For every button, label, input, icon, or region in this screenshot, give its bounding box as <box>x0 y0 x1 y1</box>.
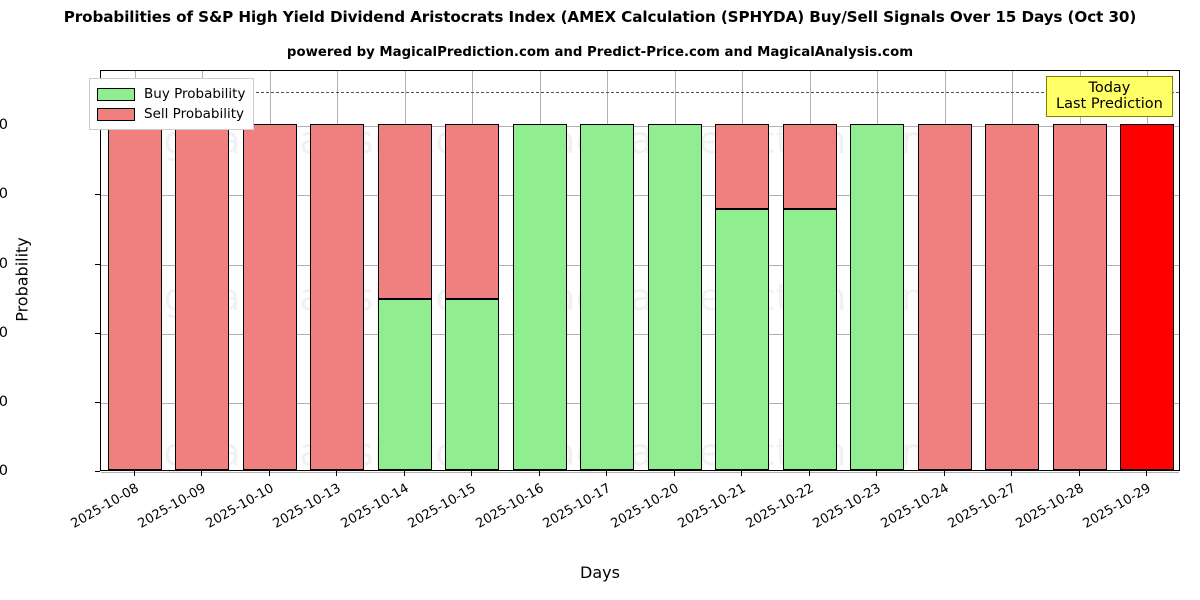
x-tick-mark <box>1079 471 1080 476</box>
bar-2025-10-13[interactable] <box>310 69 364 470</box>
y-gridline <box>101 472 1179 473</box>
bar-2025-10-23[interactable] <box>850 69 904 470</box>
bar-segment-sell[interactable] <box>175 124 229 470</box>
bar-segment-sell[interactable] <box>108 124 162 470</box>
y-tick-label: 60 <box>0 256 8 272</box>
x-tick-mark <box>134 471 135 476</box>
chart-title: Probabilities of S&P High Yield Dividend… <box>0 8 1200 26</box>
y-tick-label: 100 <box>0 117 8 133</box>
bar-segment-buy[interactable] <box>580 124 634 470</box>
today-annotation-line1: Today <box>1056 80 1163 96</box>
x-tick-mark <box>539 471 540 476</box>
bar-segment-sell[interactable] <box>378 124 432 299</box>
y-tick-mark <box>95 264 100 265</box>
x-tick-mark <box>336 471 337 476</box>
chart-figure: Probabilities of S&P High Yield Dividend… <box>0 0 1200 600</box>
y-tick-label: 0 <box>0 463 8 479</box>
watermark: MagicalAnalysis.com <box>109 431 494 474</box>
legend-item-sell: Sell Probability <box>97 104 245 124</box>
x-tick-mark <box>201 471 202 476</box>
x-tick-mark <box>404 471 405 476</box>
bar-2025-10-20[interactable] <box>648 69 702 470</box>
bar-2025-10-17[interactable] <box>580 69 634 470</box>
bar-segment-sell[interactable] <box>715 124 769 209</box>
bar-segment-sell[interactable] <box>985 124 1039 470</box>
legend: Buy Probability Sell Probability <box>89 78 254 130</box>
bar-2025-10-24[interactable] <box>918 69 972 470</box>
bar-segment-sell[interactable] <box>445 124 499 299</box>
bar-segment-buy[interactable] <box>850 124 904 470</box>
y-tick-mark <box>95 194 100 195</box>
x-tick-mark <box>1146 471 1147 476</box>
y-tick-mark <box>95 402 100 403</box>
bar-2025-10-16[interactable] <box>513 69 567 470</box>
x-axis-label: Days <box>0 563 1200 582</box>
y-tick-mark <box>95 471 100 472</box>
legend-swatch-sell-icon <box>97 108 135 121</box>
bar-segment-buy[interactable] <box>648 124 702 470</box>
x-tick-mark <box>1011 471 1012 476</box>
y-tick-label: 80 <box>0 186 8 202</box>
x-tick-mark <box>741 471 742 476</box>
y-tick-mark <box>95 333 100 334</box>
bar-segment-sell[interactable] <box>918 124 972 470</box>
legend-item-buy: Buy Probability <box>97 84 245 104</box>
chart-subtitle: powered by MagicalPrediction.com and Pre… <box>0 45 1200 60</box>
bar-2025-10-15[interactable] <box>445 69 499 470</box>
bar-segment-sell[interactable] <box>1120 124 1174 470</box>
y-tick-label: 20 <box>0 394 8 410</box>
bar-segment-buy[interactable] <box>445 299 499 470</box>
bar-2025-10-21[interactable] <box>715 69 769 470</box>
bar-2025-10-29[interactable] <box>1120 69 1174 470</box>
bar-segment-buy[interactable] <box>513 124 567 470</box>
x-tick-mark <box>944 471 945 476</box>
bar-segment-sell[interactable] <box>783 124 837 209</box>
bar-2025-10-27[interactable] <box>985 69 1039 470</box>
bar-segment-buy[interactable] <box>715 209 769 470</box>
bar-segment-sell[interactable] <box>1053 124 1107 470</box>
x-tick-mark <box>674 471 675 476</box>
bar-segment-buy[interactable] <box>378 299 432 470</box>
x-tick-mark <box>269 471 270 476</box>
x-tick-mark <box>471 471 472 476</box>
legend-label-sell: Sell Probability <box>144 106 244 122</box>
x-tick-mark <box>606 471 607 476</box>
plot-area: MagicalAnalysis.com MagicalPrediction.co… <box>100 70 1180 471</box>
bar-2025-10-28[interactable] <box>1053 69 1107 470</box>
x-tick-mark <box>809 471 810 476</box>
today-annotation: Today Last Prediction <box>1046 76 1173 117</box>
today-annotation-line2: Last Prediction <box>1056 96 1163 112</box>
y-axis-label: Probability <box>13 0 32 560</box>
bar-segment-sell[interactable] <box>310 124 364 470</box>
legend-label-buy: Buy Probability <box>144 86 245 102</box>
bar-segment-buy[interactable] <box>783 209 837 470</box>
x-tick-mark <box>876 471 877 476</box>
bar-2025-10-22[interactable] <box>783 69 837 470</box>
bar-segment-sell[interactable] <box>243 124 297 470</box>
y-tick-label: 40 <box>0 325 8 341</box>
bar-2025-10-14[interactable] <box>378 69 432 470</box>
watermark: MagicalAnalysis.com <box>109 276 494 319</box>
legend-swatch-buy-icon <box>97 88 135 101</box>
